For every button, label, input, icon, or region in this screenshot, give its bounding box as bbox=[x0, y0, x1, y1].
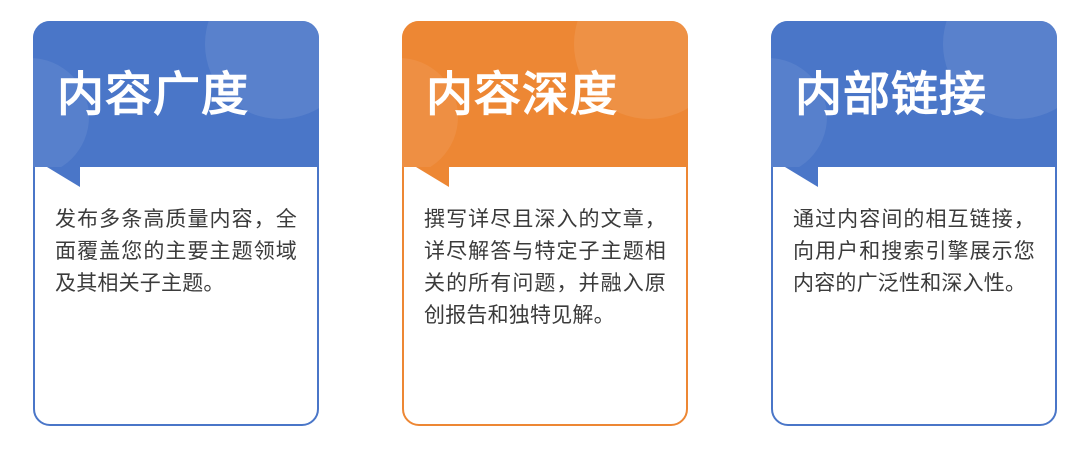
card-description: 发布多条高质量内容，全面覆盖您的主要主题领域及其相关子主题。 bbox=[55, 204, 297, 300]
card-description: 撰写详尽且深入的文章，详尽解答与特定子主题相关的所有问题，并融入原创报告和独特见… bbox=[424, 204, 666, 332]
card-content-breadth[interactable]: 内容广度 发布多条高质量内容，全面覆盖您的主要主题领域及其相关子主题。 bbox=[33, 21, 319, 426]
card-description: 通过内容间的相互链接，向用户和搜索引擎展示您内容的广泛性和深入性。 bbox=[793, 204, 1035, 300]
card-internal-links[interactable]: 内部链接 通过内容间的相互链接，向用户和搜索引擎展示您内容的广泛性和深入性。 bbox=[771, 21, 1057, 426]
card-header: 内部链接 bbox=[771, 21, 1057, 167]
card-body: 撰写详尽且深入的文章，详尽解答与特定子主题相关的所有问题，并融入原创报告和独特见… bbox=[402, 167, 688, 426]
card-body: 发布多条高质量内容，全面覆盖您的主要主题领域及其相关子主题。 bbox=[33, 167, 319, 426]
card-header: 内容深度 bbox=[402, 21, 688, 167]
card-body: 通过内容间的相互链接，向用户和搜索引擎展示您内容的广泛性和深入性。 bbox=[771, 167, 1057, 426]
card-title: 内容广度 bbox=[57, 69, 249, 118]
card-title: 内部链接 bbox=[795, 69, 987, 118]
card-title: 内容深度 bbox=[426, 69, 618, 118]
card-content-depth[interactable]: 内容深度 撰写详尽且深入的文章，详尽解答与特定子主题相关的所有问题，并融入原创报… bbox=[402, 21, 688, 426]
cards-board: 内容广度 发布多条高质量内容，全面覆盖您的主要主题领域及其相关子主题。 内容深度… bbox=[0, 0, 1080, 454]
card-header: 内容广度 bbox=[33, 21, 319, 167]
